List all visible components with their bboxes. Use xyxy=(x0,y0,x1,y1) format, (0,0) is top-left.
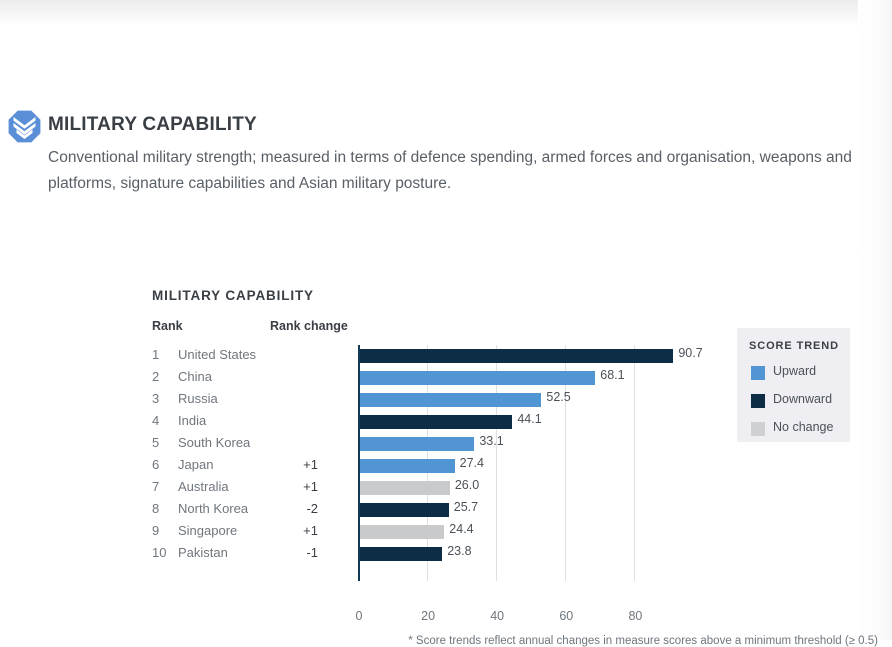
table-row[interactable]: 8North Korea-2 xyxy=(152,499,352,521)
legend-swatch-down xyxy=(751,394,765,408)
table-row[interactable]: 4India xyxy=(152,411,352,433)
row-rank-change: +1 xyxy=(292,479,318,494)
x-axis-tick-label: 60 xyxy=(559,609,573,623)
row-country: South Korea xyxy=(178,435,250,450)
bar[interactable] xyxy=(360,503,449,517)
legend-swatch-up xyxy=(751,366,765,380)
bar[interactable] xyxy=(360,393,541,407)
bar-value-label: 25.7 xyxy=(454,500,478,514)
section-header: MILITARY CAPABILITY Conventional militar… xyxy=(8,108,884,197)
row-country: United States xyxy=(178,347,256,362)
table-row[interactable]: 6Japan+1 xyxy=(152,455,352,477)
row-country: North Korea xyxy=(178,501,248,516)
row-country: Australia xyxy=(178,479,229,494)
table-row[interactable]: 2China xyxy=(152,367,352,389)
bar-row[interactable]: 23.8 xyxy=(360,543,842,565)
x-axis: 020406080 xyxy=(358,609,840,629)
bar-value-label: 44.1 xyxy=(517,412,541,426)
row-country: Pakistan xyxy=(178,545,228,560)
bar-value-label: 68.1 xyxy=(600,368,624,382)
row-rank-change: -1 xyxy=(292,545,318,560)
row-rank: 2 xyxy=(152,369,174,384)
legend-item[interactable]: No change xyxy=(751,420,846,438)
row-rank: 1 xyxy=(152,347,174,362)
row-rank: 6 xyxy=(152,457,174,472)
bar[interactable] xyxy=(360,525,444,539)
table-row[interactable]: 10Pakistan-1 xyxy=(152,543,352,565)
legend: SCORE TREND UpwardDownwardNo change xyxy=(737,328,850,442)
bar[interactable] xyxy=(360,437,474,451)
bar[interactable] xyxy=(360,481,450,495)
row-rank: 8 xyxy=(152,501,174,516)
bar-value-label: 90.7 xyxy=(678,346,702,360)
legend-label: No change xyxy=(773,420,833,434)
bar[interactable] xyxy=(360,415,512,429)
row-rank: 5 xyxy=(152,435,174,450)
row-country: Japan xyxy=(178,457,213,472)
row-country: China xyxy=(178,369,212,384)
bar-value-label: 33.1 xyxy=(479,434,503,448)
row-rank: 3 xyxy=(152,391,174,406)
bar-value-label: 24.4 xyxy=(449,522,473,536)
bar-value-label: 27.4 xyxy=(460,456,484,470)
legend-label: Downward xyxy=(773,392,832,406)
row-country: India xyxy=(178,413,206,428)
page-top-band xyxy=(0,0,892,26)
table-row[interactable]: 7Australia+1 xyxy=(152,477,352,499)
bar-value-label: 23.8 xyxy=(447,544,471,558)
row-rank-change: -2 xyxy=(292,501,318,516)
row-rank-change: +1 xyxy=(292,523,318,538)
table-row[interactable]: 9Singapore+1 xyxy=(152,521,352,543)
legend-label: Upward xyxy=(773,364,816,378)
bar-value-label: 26.0 xyxy=(455,478,479,492)
bar[interactable] xyxy=(360,459,455,473)
section-description: Conventional military strength; measured… xyxy=(48,145,880,197)
page-title: MILITARY CAPABILITY xyxy=(48,108,257,141)
row-rank: 10 xyxy=(152,545,174,560)
table-row[interactable]: 5South Korea xyxy=(152,433,352,455)
row-country: Singapore xyxy=(178,523,237,538)
row-rank: 9 xyxy=(152,523,174,538)
bar[interactable] xyxy=(360,349,673,363)
x-axis-tick-label: 40 xyxy=(490,609,504,623)
row-rank-change: +1 xyxy=(292,457,318,472)
bar[interactable] xyxy=(360,547,442,561)
row-rank: 4 xyxy=(152,413,174,428)
row-rank: 7 xyxy=(152,479,174,494)
legend-item[interactable]: Downward xyxy=(751,392,846,410)
x-axis-tick-label: 0 xyxy=(356,609,363,623)
chart-title: MILITARY CAPABILITY xyxy=(152,288,852,303)
x-axis-tick-label: 80 xyxy=(628,609,642,623)
bar-row[interactable]: 24.4 xyxy=(360,521,842,543)
chevron-badge-icon xyxy=(8,110,41,143)
bar-row[interactable]: 26.0 xyxy=(360,477,842,499)
table-row[interactable]: 3Russia xyxy=(152,389,352,411)
bar-row[interactable]: 27.4 xyxy=(360,455,842,477)
chart-footnote: * Score trends reflect annual changes in… xyxy=(358,635,878,647)
table-row[interactable]: 1United States xyxy=(152,345,352,367)
bar-value-label: 52.5 xyxy=(546,390,570,404)
legend-item[interactable]: Upward xyxy=(751,364,846,382)
bar[interactable] xyxy=(360,371,595,385)
row-country: Russia xyxy=(178,391,218,406)
legend-swatch-none xyxy=(751,422,765,436)
x-axis-tick-label: 20 xyxy=(421,609,435,623)
legend-title: SCORE TREND xyxy=(749,340,839,352)
page-right-band xyxy=(858,0,892,640)
bar-row[interactable]: 25.7 xyxy=(360,499,842,521)
